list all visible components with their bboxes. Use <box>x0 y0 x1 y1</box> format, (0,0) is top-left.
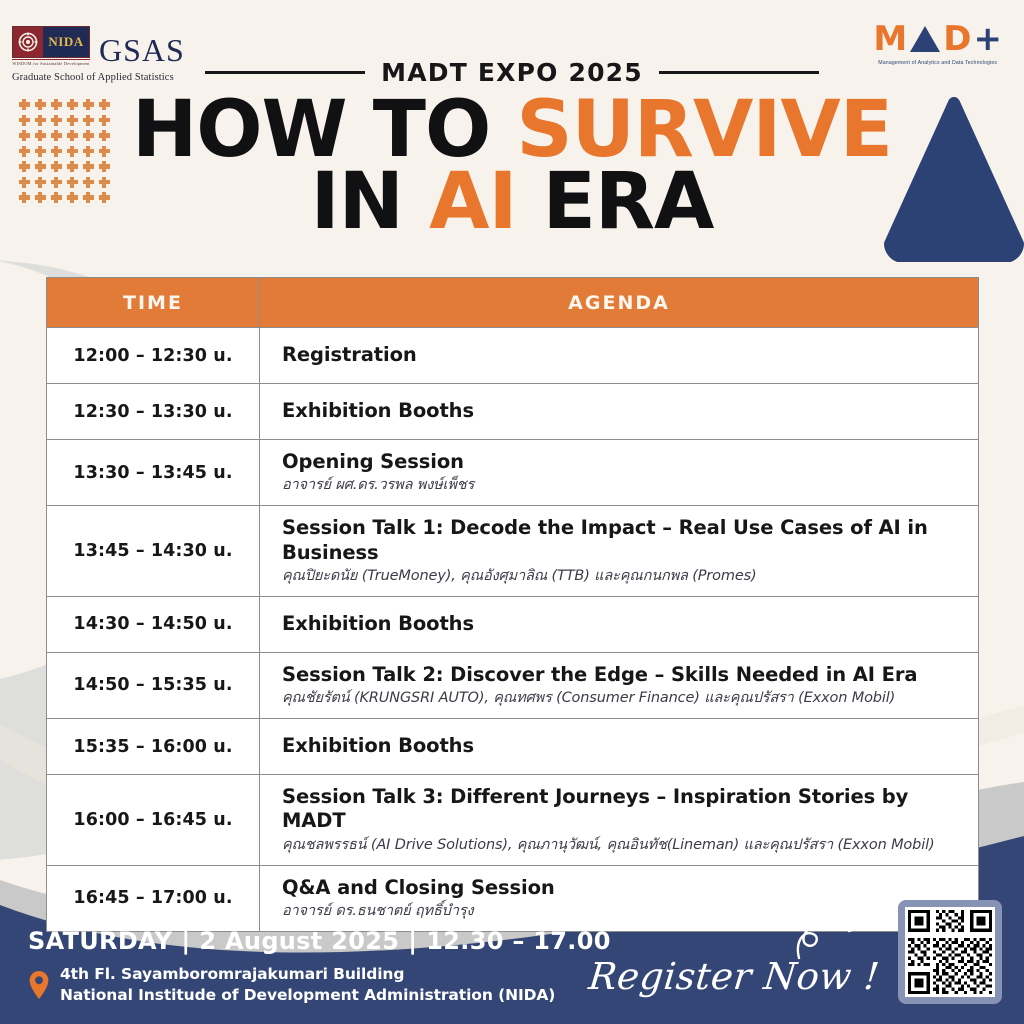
nida-badge: NIDA <box>12 26 90 58</box>
madt-plus-icon: + <box>974 22 1003 56</box>
table-row: 12:00 – 12:30 u. Registration <box>47 327 978 383</box>
table-row: 15:35 – 16:00 u. Exhibition Booths <box>47 718 978 774</box>
row-title: Exhibition Booths <box>282 399 978 423</box>
row-time: 16:00 – 16:45 u. <box>47 775 260 865</box>
qr-code-image <box>905 907 995 997</box>
agenda-table: TIME AGENDA 12:00 – 12:30 u. Registratio… <box>46 277 979 932</box>
headline-ai: AI <box>429 157 516 247</box>
nida-wordmark: NIDA <box>48 34 83 50</box>
row-time: 13:30 – 13:45 u. <box>47 440 260 505</box>
headline-era: ERA <box>516 157 713 247</box>
row-speaker: คุณชัยรัตน์ (KRUNGSRI AUTO), คุณทศพร (Co… <box>282 689 978 708</box>
poster-title-block: MADT EXPO 2025 HOW TO SURVIVE IN AI ERA <box>0 58 1024 240</box>
venue-address: 4th Fl. Sayamboromrajakumari Building Na… <box>60 964 555 1006</box>
rule-right <box>659 71 819 74</box>
row-agenda: Session Talk 3: Different Journeys – Ins… <box>260 775 978 865</box>
venue-line-2: National Institude of Development Admini… <box>60 986 555 1004</box>
headline-in: IN <box>311 157 429 247</box>
agenda-table-header: TIME AGENDA <box>47 278 978 327</box>
row-speaker: คุณปิยะดนัย (TrueMoney), คุณอังศุมาลิณ (… <box>282 567 978 586</box>
row-time: 14:50 – 15:35 u. <box>47 653 260 718</box>
location-pin-icon <box>28 970 50 1000</box>
table-row: 12:30 – 13:30 u. Exhibition Booths <box>47 383 978 439</box>
row-agenda: Exhibition Booths <box>260 384 978 439</box>
row-agenda: Registration <box>260 328 978 383</box>
madt-letter-m: M <box>873 22 907 56</box>
row-title: Session Talk 1: Decode the Impact – Real… <box>282 516 978 565</box>
header-time: TIME <box>47 278 260 327</box>
headline-line-2: IN AI ERA <box>0 165 1024 241</box>
rule-left <box>205 71 365 74</box>
venue-row: 4th Fl. Sayamboromrajakumari Building Na… <box>28 964 611 1006</box>
row-time: 12:30 – 13:30 u. <box>47 384 260 439</box>
table-row: 16:00 – 16:45 u. Session Talk 3: Differe… <box>47 774 978 865</box>
nida-target-icon <box>13 27 43 57</box>
row-agenda: Exhibition Booths <box>260 719 978 774</box>
eyebrow-row: MADT EXPO 2025 <box>0 58 1024 87</box>
row-speaker: คุณชลพรรธน์ (AI Drive Solutions), คุณภาน… <box>282 836 978 855</box>
row-title: Session Talk 3: Different Journeys – Ins… <box>282 785 978 834</box>
register-now-text[interactable]: Register Now ! <box>586 955 881 998</box>
row-title: Opening Session <box>282 450 978 474</box>
footer-info: SATURDAY|2 August 2025|12.30 – 17.00 4th… <box>28 927 611 1006</box>
event-date: 2 August 2025 <box>199 927 399 955</box>
row-agenda: Session Talk 1: Decode the Impact – Real… <box>260 506 978 596</box>
table-row: 13:45 – 14:30 u. Session Talk 1: Decode … <box>47 505 978 596</box>
venue-line-1: 4th Fl. Sayamboromrajakumari Building <box>60 965 404 983</box>
row-title: Exhibition Booths <box>282 734 978 758</box>
row-title: Q&A and Closing Session <box>282 876 978 900</box>
event-datetime-line: SATURDAY|2 August 2025|12.30 – 17.00 <box>28 927 611 955</box>
row-time: 12:00 – 12:30 u. <box>47 328 260 383</box>
event-time: 12.30 – 17.00 <box>426 927 610 955</box>
row-title: Exhibition Booths <box>282 612 978 636</box>
event-poster: NIDA WISDOM for Sustainable Development … <box>0 0 1024 1024</box>
qr-code[interactable] <box>898 900 1002 1004</box>
madt-letter-d: D <box>943 22 971 56</box>
row-title: Registration <box>282 343 978 367</box>
separator-1: | <box>172 927 199 955</box>
row-speaker: อาจารย์ ผศ.ดร.วรพล พงษ์เพ็ชร <box>282 476 978 495</box>
table-row: 14:50 – 15:35 u. Session Talk 2: Discove… <box>47 652 978 718</box>
register-cta[interactable]: Register Now ! <box>589 912 879 998</box>
row-agenda: Session Talk 2: Discover the Edge – Skil… <box>260 653 978 718</box>
row-time: 13:45 – 14:30 u. <box>47 506 260 596</box>
madt-triangle-a-icon <box>910 26 940 52</box>
header-agenda: AGENDA <box>260 278 978 327</box>
row-agenda: Opening Session อาจารย์ ผศ.ดร.วรพล พงษ์เ… <box>260 440 978 505</box>
row-title: Session Talk 2: Discover the Edge – Skil… <box>282 663 978 687</box>
row-time: 15:35 – 16:00 u. <box>47 719 260 774</box>
separator-2: | <box>399 927 426 955</box>
event-eyebrow: MADT EXPO 2025 <box>381 58 643 87</box>
row-agenda: Exhibition Booths <box>260 597 978 652</box>
row-time: 16:45 – 17:00 u. <box>47 866 260 931</box>
event-day: SATURDAY <box>28 927 172 955</box>
table-row: 13:30 – 13:45 u. Opening Session อาจารย์… <box>47 439 978 505</box>
row-time: 14:30 – 14:50 u. <box>47 597 260 652</box>
table-row: 14:30 – 14:50 u. Exhibition Booths <box>47 596 978 652</box>
